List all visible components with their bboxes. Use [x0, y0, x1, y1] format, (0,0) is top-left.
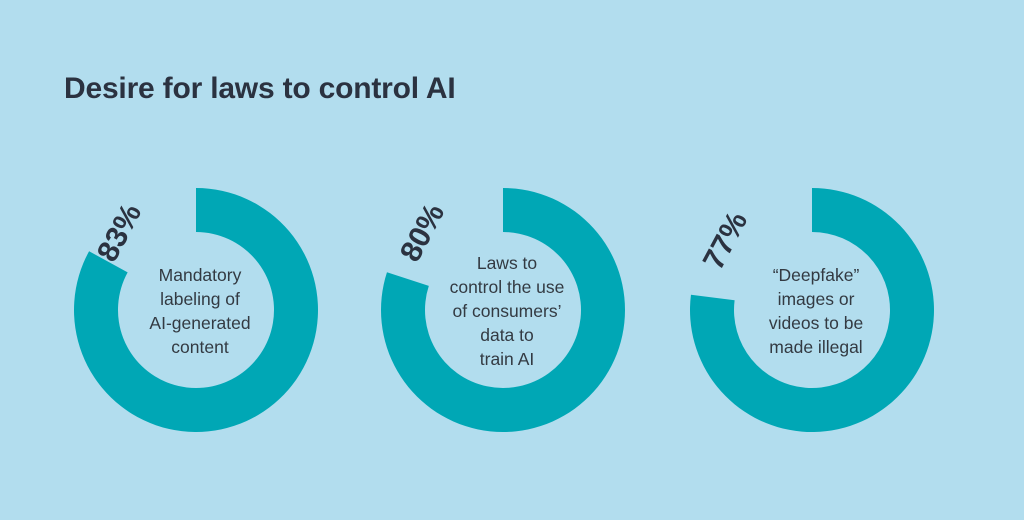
- donut-chart-2: 77% “Deepfake”images orvideos to bemade …: [688, 178, 944, 444]
- donut-chart-0: 83% Mandatorylabeling ofAI-generatedcont…: [72, 178, 328, 444]
- page-title: Desire for laws to control AI: [64, 72, 456, 106]
- infographic-canvas: Desire for laws to control AI 83% Mandat…: [0, 0, 1024, 520]
- donut-chart-1: 80% Laws tocontrol the useof consumers’d…: [379, 178, 635, 444]
- donut-chart-group: 83% Mandatorylabeling ofAI-generatedcont…: [0, 178, 1024, 448]
